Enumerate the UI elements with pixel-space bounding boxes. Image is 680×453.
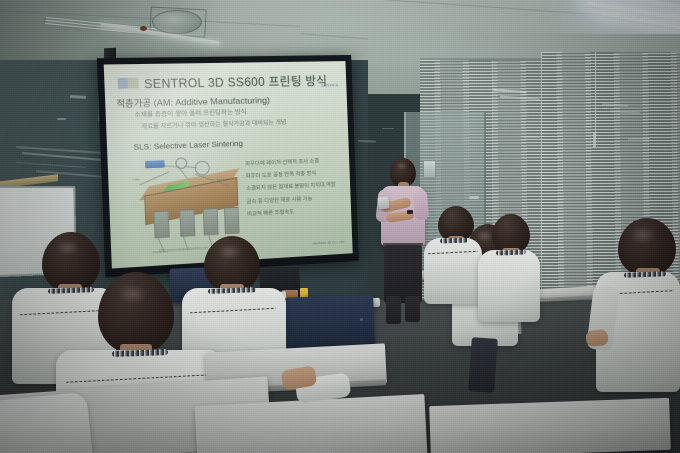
diagram-piston: [203, 208, 219, 236]
shirt: [0, 391, 93, 453]
wall-light-reflection: [382, 128, 394, 129]
presenter-leg-left: [386, 296, 401, 324]
slide-corporate-mark: SENTROL: [321, 83, 339, 87]
shirt: [478, 250, 540, 322]
diagram-piston: [224, 207, 240, 235]
slide-bullet: 소결되지 않은 원재료 분말이 지지대 역할: [246, 182, 353, 193]
blind-cord-weight[interactable]: [593, 132, 596, 148]
uniform-collar: [496, 249, 526, 255]
slide-subtext-2: 재료를 자르거나 깎아 생산하는 절삭가공과 대비되는 개념: [141, 117, 286, 131]
glass-glint: [628, 138, 650, 140]
blind-cord[interactable]: [595, 52, 596, 138]
classroom-chair[interactable]: [285, 294, 375, 349]
uniform-collar: [440, 238, 468, 244]
chair-bolt: [360, 318, 363, 321]
slide-bullet: 파우더에 레이저 선택적 조사 소결: [245, 158, 353, 168]
hair-highlight: [630, 226, 656, 244]
diagram-mirror-icon: [175, 157, 187, 169]
slide-title: SENTROL 3D SS600 프린팅 방식: [144, 72, 328, 92]
slide-footer: SENTROL 3D CO., LTD: [312, 240, 344, 246]
diagram-beam-line: [165, 165, 180, 167]
wall-switch-panel[interactable]: [423, 160, 436, 178]
presenter-leg-right: [405, 296, 420, 322]
ceiling-sensor: [140, 26, 147, 31]
slide-bullet: 금속 등 다양한 재료 사용 가능: [247, 195, 353, 206]
classroom-desk-right-front: [429, 398, 671, 453]
door-handle-icon[interactable]: [469, 196, 479, 199]
glass-glint: [524, 136, 540, 138]
slide-bullet: 비교적 빠른 조형속도: [247, 207, 353, 219]
presenter-trousers: [384, 245, 422, 303]
slide-bullet: 파우더 도포 공정 반복 적층 방식: [246, 170, 353, 181]
slide-logo-icon: [118, 78, 139, 89]
diagram-scanner-label: Scanner: [216, 179, 226, 183]
sample-part-held: [377, 196, 390, 209]
slide-bullet-list: 파우더에 레이저 선택적 조사 소결 파우더 도포 공정 반복 적층 방식 소결…: [245, 158, 353, 225]
presenter-arm-right: [413, 189, 430, 220]
hair-highlight: [396, 162, 408, 170]
diagram-laser-source: [145, 160, 165, 168]
leg: [468, 337, 498, 393]
diagram-laser-label: Laser: [133, 178, 140, 181]
hair-highlight: [118, 284, 148, 304]
slide-subtext-1: 소재를 층층이 쌓아 올려 프린팅하는 방식: [134, 107, 247, 119]
shirt: [424, 238, 482, 304]
blind-pane-divider: [541, 52, 542, 324]
wristwatch: [407, 210, 413, 214]
slide-section-heading: SLS: Selective Laser Sintering: [133, 139, 243, 152]
hair-highlight: [56, 240, 80, 256]
hair-highlight: [218, 244, 242, 260]
photo-scene: SENTROL 3D SS600 프린팅 방식 SENTROL 적층가공 (AM…: [0, 0, 680, 453]
